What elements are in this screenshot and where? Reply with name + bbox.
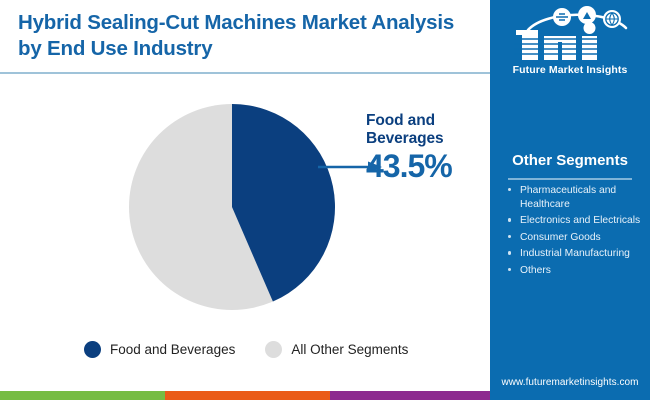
side-panel: Future Market Insights Other Segments Ph… bbox=[490, 0, 650, 400]
list-item-label: Consumer Goods bbox=[520, 232, 601, 243]
callout-segment-value: 43.5% bbox=[366, 150, 486, 182]
pie-chart bbox=[129, 104, 335, 310]
fmi-logo-icon bbox=[504, 6, 636, 62]
list-item: Others bbox=[506, 264, 648, 278]
list-item: Consumer Goods bbox=[506, 231, 648, 245]
website-url[interactable]: www.futuremarketinsights.com bbox=[490, 377, 650, 388]
title-divider bbox=[0, 72, 490, 74]
list-item-label: Pharmaceuticals and Healthcare bbox=[520, 185, 616, 210]
bullet-icon bbox=[508, 235, 511, 238]
legend-item: Food and Beverages bbox=[84, 341, 235, 358]
list-item: Pharmaceuticals and Healthcare bbox=[506, 184, 648, 211]
callout-segment-name: Food and Beverages bbox=[366, 112, 486, 149]
page-title: Hybrid Sealing-Cut Machines Market Analy… bbox=[18, 10, 468, 62]
pie-chart-svg bbox=[129, 104, 335, 310]
legend-item-label: Food and Beverages bbox=[110, 342, 235, 357]
legend-item: All Other Segments bbox=[265, 341, 408, 358]
list-item: Industrial Manufacturing bbox=[506, 247, 648, 261]
brand-logo: Future Market Insights bbox=[490, 6, 650, 76]
legend-swatch-icon bbox=[84, 341, 101, 358]
bullet-icon bbox=[508, 268, 511, 271]
list-item-label: Others bbox=[520, 265, 551, 276]
list-item-label: Electronics and Electricals bbox=[520, 215, 640, 226]
pie-callout: Food and Beverages 43.5% bbox=[366, 112, 486, 182]
bullet-icon bbox=[508, 251, 511, 254]
strip-segment-purple bbox=[330, 391, 490, 400]
other-segments-list: Pharmaceuticals and Healthcare Electroni… bbox=[506, 184, 648, 280]
legend-swatch-icon bbox=[265, 341, 282, 358]
strip-segment-green bbox=[0, 391, 165, 400]
bullet-icon bbox=[508, 218, 511, 221]
legend-item-label: All Other Segments bbox=[291, 342, 408, 357]
brand-tagline: Future Market Insights bbox=[490, 64, 650, 76]
panel-heading-rule bbox=[508, 178, 632, 180]
bottom-color-strip bbox=[0, 391, 490, 400]
other-segments-heading: Other Segments bbox=[490, 152, 650, 169]
list-item-label: Industrial Manufacturing bbox=[520, 248, 630, 259]
infographic-canvas: Hybrid Sealing-Cut Machines Market Analy… bbox=[0, 0, 650, 400]
chart-legend: Food and Beverages All Other Segments bbox=[84, 341, 408, 358]
strip-segment-orange bbox=[165, 391, 330, 400]
list-item: Electronics and Electricals bbox=[506, 214, 648, 228]
bullet-icon bbox=[508, 188, 511, 191]
page-title-text: Hybrid Sealing-Cut Machines Market Analy… bbox=[18, 10, 468, 62]
